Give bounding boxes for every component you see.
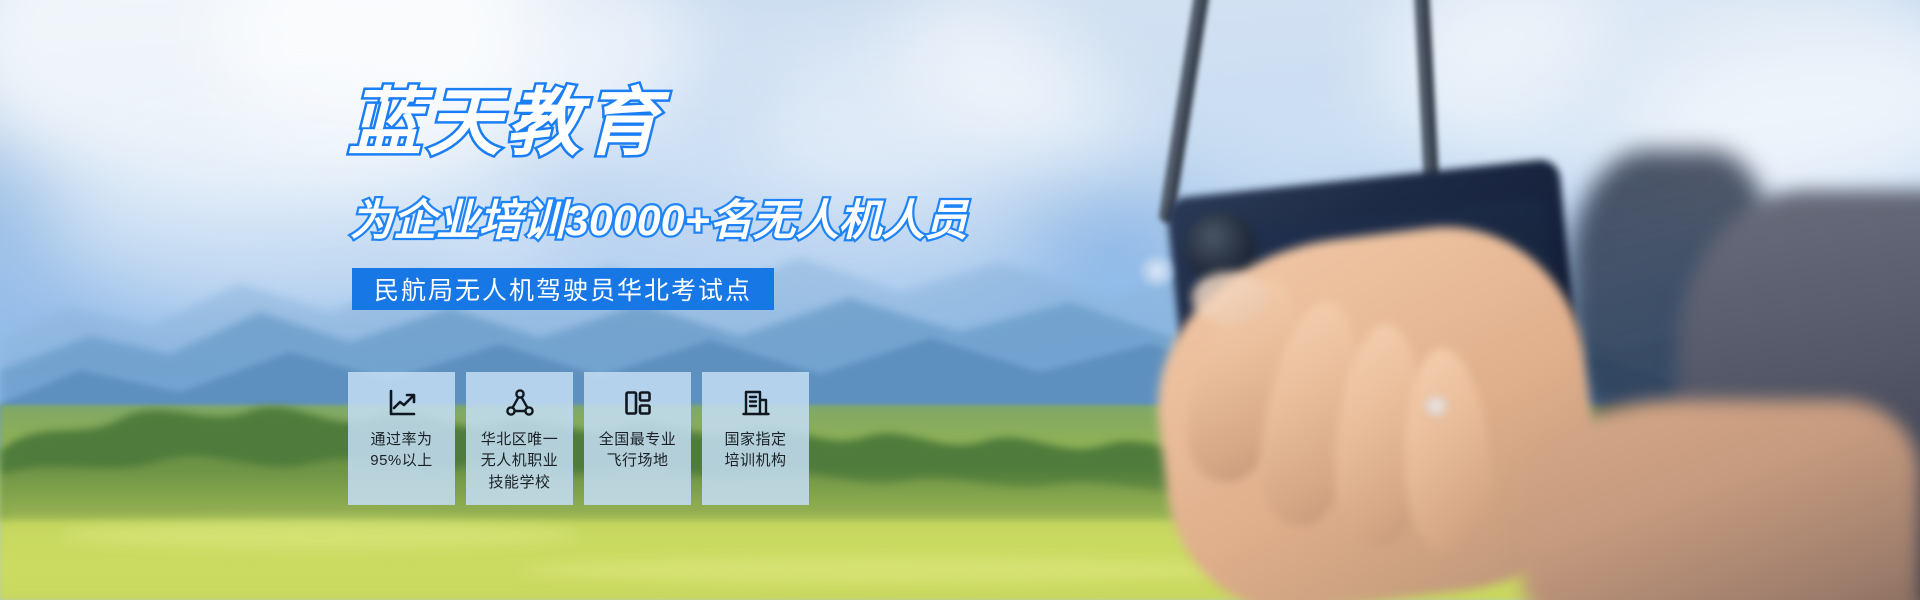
banner-content: 蓝天教育 为企业培训30000+名无人机人员 民航局无人机驾驶员华北考试点 通过… (0, 0, 1920, 600)
page-title: 蓝天教育 (348, 86, 664, 160)
status-badge: 民航局无人机驾驶员华北考试点 (352, 268, 774, 310)
feature-card-label: 全国最专业 飞行场地 (599, 429, 677, 472)
hero-banner: 蓝天教育 为企业培训30000+名无人机人员 民航局无人机驾驶员华北考试点 通过… (0, 0, 1920, 600)
chart-growth-icon (385, 386, 419, 420)
feature-card-label: 通过率为 95%以上 (370, 429, 433, 472)
feature-card-state-institution[interactable]: 国家指定 培训机构 (702, 372, 809, 505)
feature-card-label: 国家指定 培训机构 (724, 429, 786, 472)
feature-card-flight-field[interactable]: 全国最专业 飞行场地 (584, 372, 691, 505)
page-subtitle: 为企业培训30000+名无人机人员 (350, 200, 968, 243)
layout-grid-icon (621, 386, 655, 420)
feature-card-pass-rate[interactable]: 通过率为 95%以上 (348, 372, 455, 505)
feature-card-label: 华北区唯一 无人机职业 技能学校 (481, 429, 559, 493)
building-icon (739, 386, 773, 420)
network-node-icon (503, 386, 537, 420)
feature-card-vocational-school[interactable]: 华北区唯一 无人机职业 技能学校 (466, 372, 573, 505)
feature-card-list: 通过率为 95%以上 华北区唯一 (348, 372, 809, 505)
